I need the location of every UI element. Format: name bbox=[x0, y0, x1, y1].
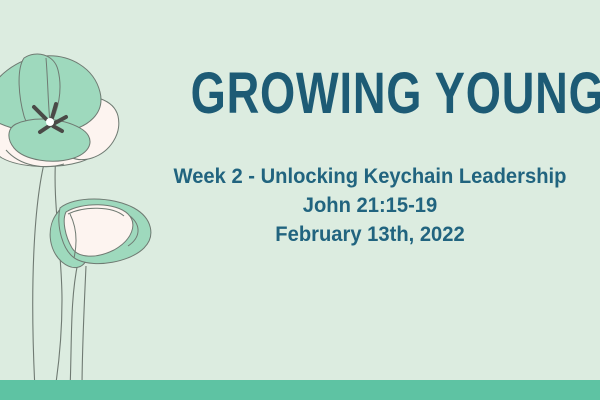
subtitle-line-date: February 13th, 2022 bbox=[149, 220, 591, 249]
slide-canvas: GROWING YOUNG Week 2 - Unlocking Keychai… bbox=[0, 0, 600, 400]
stamen-marks bbox=[34, 104, 66, 132]
subtitle-line-scripture: John 21:15-19 bbox=[149, 191, 591, 220]
text-block: GROWING YOUNG Week 2 - Unlocking Keychai… bbox=[140, 50, 600, 249]
top-flower bbox=[0, 54, 119, 167]
subtitle-line-series: Week 2 - Unlocking Keychain Leadership bbox=[149, 162, 591, 191]
bottom-flower-bud bbox=[50, 199, 151, 268]
accent-bottom-bar bbox=[0, 380, 600, 400]
page-title: GROWING YOUNG bbox=[191, 64, 550, 124]
flower-stems bbox=[33, 152, 86, 390]
subtitle-group: Week 2 - Unlocking Keychain Leadership J… bbox=[140, 162, 600, 249]
